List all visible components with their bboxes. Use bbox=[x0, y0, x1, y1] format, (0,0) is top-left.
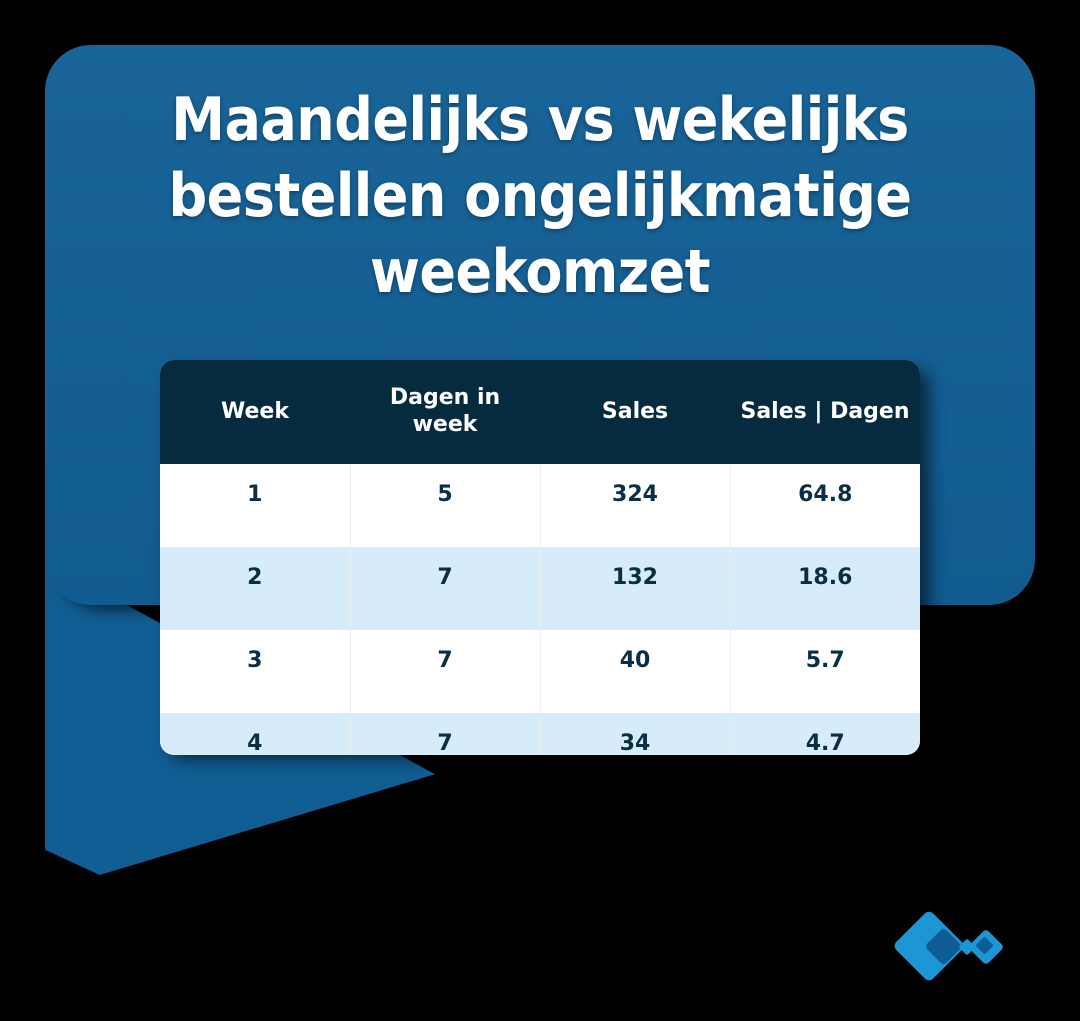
cell-week: 4 bbox=[160, 713, 350, 755]
table-body: 1 5 324 64.8 2 7 132 18.6 3 7 40 5.7 bbox=[160, 464, 920, 755]
cell-week: 1 bbox=[160, 464, 350, 547]
table-row: 4 7 34 4.7 bbox=[160, 713, 920, 755]
cell-sales: 34 bbox=[540, 713, 730, 755]
column-header-dagen-in-week: Dagen in week bbox=[350, 360, 540, 464]
cell-sales-per-dagen: 4.7 bbox=[730, 713, 920, 755]
column-header-sales: Sales bbox=[540, 360, 730, 464]
cell-sales: 40 bbox=[540, 630, 730, 713]
cell-sales-per-dagen: 64.8 bbox=[730, 464, 920, 547]
page-title: Maandelijks vs wekelijks bestellen ongel… bbox=[45, 82, 1035, 310]
cell-dagen-in-week: 7 bbox=[350, 630, 540, 713]
cell-week: 3 bbox=[160, 630, 350, 713]
table-header: Week Dagen in week Sales Sales | Dagen bbox=[160, 360, 920, 464]
data-table: Week Dagen in week Sales Sales | Dagen 1… bbox=[160, 360, 920, 755]
diamond-logo bbox=[890, 908, 1010, 993]
cell-dagen-in-week: 7 bbox=[350, 713, 540, 755]
slide-canvas: Maandelijks vs wekelijks bestellen ongel… bbox=[0, 0, 1080, 1021]
cell-dagen-in-week: 7 bbox=[350, 547, 540, 630]
data-table-container: Week Dagen in week Sales Sales | Dagen 1… bbox=[160, 360, 920, 755]
table-header-row: Week Dagen in week Sales Sales | Dagen bbox=[160, 360, 920, 464]
table-row: 3 7 40 5.7 bbox=[160, 630, 920, 713]
table-row: 1 5 324 64.8 bbox=[160, 464, 920, 547]
cell-dagen-in-week: 5 bbox=[350, 464, 540, 547]
cell-sales: 132 bbox=[540, 547, 730, 630]
cell-sales: 324 bbox=[540, 464, 730, 547]
cell-week: 2 bbox=[160, 547, 350, 630]
column-header-sales-per-dagen: Sales | Dagen bbox=[730, 360, 920, 464]
cell-sales-per-dagen: 18.6 bbox=[730, 547, 920, 630]
cell-sales-per-dagen: 5.7 bbox=[730, 630, 920, 713]
column-header-week: Week bbox=[160, 360, 350, 464]
table-row: 2 7 132 18.6 bbox=[160, 547, 920, 630]
